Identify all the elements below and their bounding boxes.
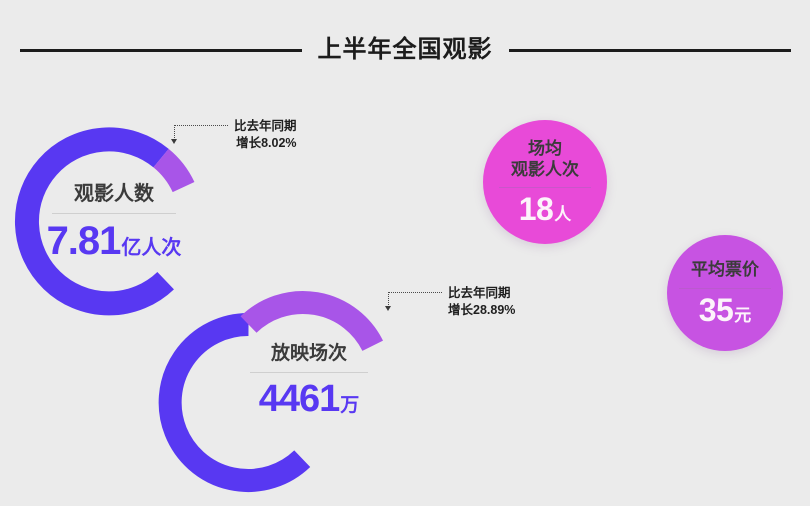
stat-circle-avg-price-divider — [679, 288, 771, 289]
annotation-viewers-line2: 增长8.02% — [234, 135, 297, 152]
donut-screenings-growth-arc — [249, 302, 373, 345]
stat-circle-avg-attendance-value: 18 人 — [519, 193, 572, 225]
page-title-bar: 上半年全国观影 — [0, 32, 810, 68]
donut-viewers-base-arc — [27, 139, 166, 303]
arrow-down-icon — [171, 139, 177, 144]
annotation-viewers-growth: 比去年同期 增长8.02% — [166, 118, 297, 152]
annotation-screenings-line1: 比去年同期 — [448, 285, 515, 302]
title-rule-right — [509, 49, 791, 52]
stat-circle-avg-attendance-divider — [499, 187, 591, 188]
stat-circle-avg-attendance-number: 18 — [519, 193, 554, 225]
page-title: 上半年全国观影 — [302, 38, 509, 62]
donut-screenings-base-arc — [170, 325, 302, 481]
stat-circle-avg-price-label-line1: 平均票价 — [691, 260, 759, 280]
annotation-screenings-leader-line — [380, 285, 442, 302]
annotation-screenings-growth: 比去年同期 增长28.89% — [380, 285, 515, 319]
donut-chart-screenings[interactable]: 放映场次 4461 万 — [220, 292, 398, 470]
stat-circle-avg-price-label: 平均票价 — [691, 260, 759, 280]
annotation-viewers-line1: 比去年同期 — [234, 118, 297, 135]
annotation-viewers-leader-line — [166, 118, 228, 135]
stat-circle-avg-price-unit: 元 — [734, 307, 751, 324]
stat-circle-avg-price-value: 35 元 — [699, 294, 752, 326]
title-rule-left — [20, 49, 302, 52]
stat-circle-avg-attendance-label-line2: 观影人次 — [511, 160, 579, 180]
stat-circle-avg-attendance-unit: 人 — [554, 206, 571, 223]
stat-circle-avg-price[interactable]: 平均票价 35 元 — [667, 235, 783, 351]
stat-circle-avg-attendance-label: 场均 观影人次 — [511, 139, 579, 179]
donut-viewers-growth-arc — [161, 158, 183, 187]
arrow-down-icon — [385, 306, 391, 311]
infographic-canvas: 上半年全国观影 观影人数 7.81 亿人次 比 — [0, 0, 810, 506]
stat-circle-avg-price-number: 35 — [699, 294, 734, 326]
donut-chart-viewers[interactable]: 观影人数 7.81 亿人次 — [20, 128, 208, 316]
annotation-screenings-line2: 增长28.89% — [448, 302, 515, 319]
stat-circle-avg-attendance[interactable]: 场均 观影人次 18 人 — [483, 120, 607, 244]
stat-circle-avg-attendance-label-line1: 场均 — [511, 139, 579, 159]
